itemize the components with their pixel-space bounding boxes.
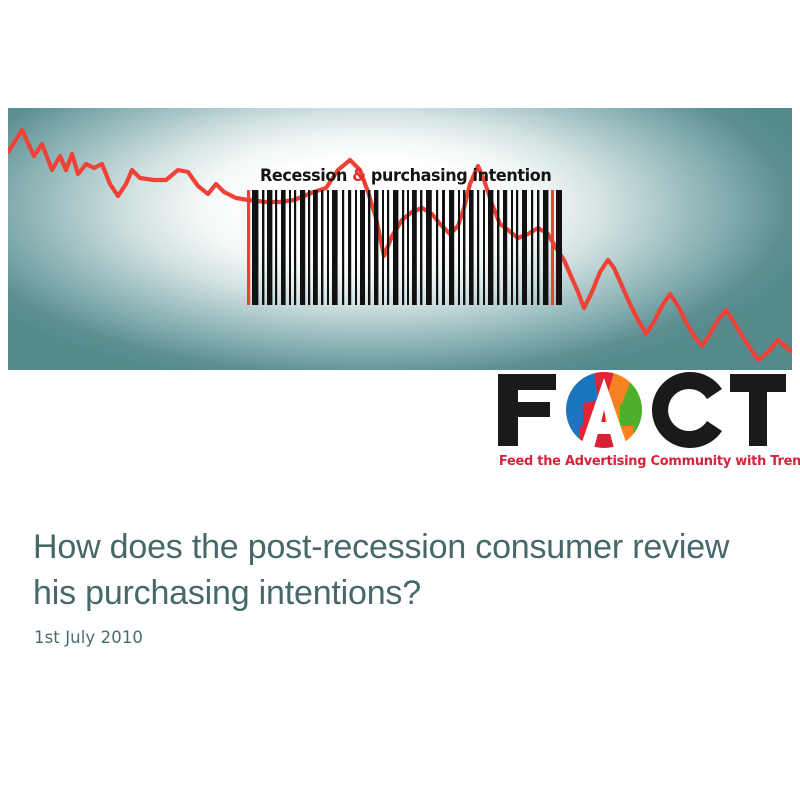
logo-letter-c [652,372,722,448]
barcode-guard-bars [247,190,554,305]
logo-letter-t [730,374,786,446]
barcode-bars [246,190,564,305]
barcode-caption-before: Recession [260,166,352,185]
fact-logo-tagline: Feed the Advertising Community with Tren… [499,454,785,469]
barcode-caption-after: purchasing intention [366,166,552,185]
hero-banner: Recession & purchasing intention [8,108,792,370]
barcode-graphic: Recession & purchasing intention [246,163,564,305]
barcode-caption: Recession & purchasing intention [260,163,541,189]
barcode-caption-ampersand: & [352,166,366,185]
logo-letter-f [498,374,556,446]
fact-logo-mark [494,370,788,448]
barcode-bar-group [252,190,562,305]
logo-letter-a-disc [566,372,644,448]
slide-date: 1st July 2010 [34,628,143,647]
slide-title: How does the post-recession consumer rev… [33,524,763,616]
fact-logo: Feed the Advertising Community with Tren… [494,370,788,474]
